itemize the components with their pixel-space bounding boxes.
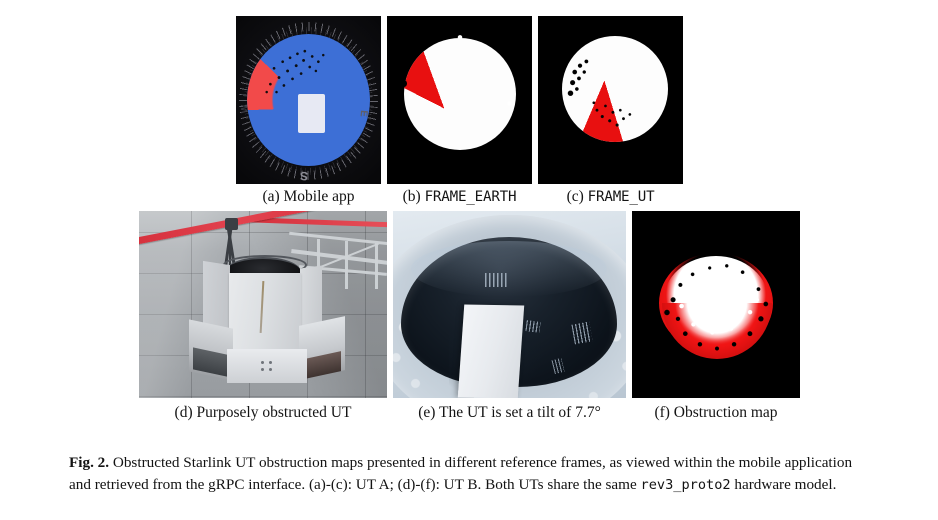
unknown-region-holes	[562, 36, 668, 142]
user-terminal-dish-rim	[223, 255, 307, 275]
subcaption-f: (f) Obstruction map	[632, 404, 800, 422]
subcaption-b-prefix: (b)	[403, 188, 425, 205]
clear-speckle	[658, 253, 776, 355]
enclosure-bolt	[261, 361, 264, 364]
subcaption-c-prefix: (c)	[567, 188, 588, 205]
enclosure-bolt	[269, 368, 272, 371]
subcaption-c-frame-name: FRAME_UT	[588, 189, 655, 205]
railing-post	[345, 241, 348, 289]
subcaption-e: (e) The UT is set a tilt of 7.7°	[393, 404, 626, 422]
railing-post	[375, 243, 378, 289]
dish-interior-sheen	[411, 241, 607, 297]
enclosure-bolt	[269, 361, 272, 364]
panel-f-obstruction-map-image	[632, 211, 800, 398]
panel-e-ut-tilt-photo	[393, 211, 626, 398]
map-edge-notch	[401, 80, 407, 87]
subcaption-b-frame-name: FRAME_EARTH	[425, 189, 517, 205]
figure-caption: Fig. 2. Obstructed Starlink UT obstructi…	[69, 452, 875, 496]
tilt-panel	[458, 304, 524, 398]
subcaption-e-text: (e) The UT is set a tilt of 7.7°	[418, 404, 601, 421]
figure-2: W E S (a) Mobile app (b) FRAME_EARTH (c)…	[0, 0, 938, 520]
phased-array-marking	[485, 273, 507, 287]
enclosure-bolt	[261, 368, 264, 371]
figure-label: Fig. 2.	[69, 454, 109, 471]
compass-marker-south: S	[300, 169, 309, 183]
subcaption-b: (b) FRAME_EARTH	[387, 188, 532, 206]
obstructed-region	[404, 38, 516, 150]
subcaption-a-text: (a) Mobile app	[262, 188, 354, 205]
enclosure-front-panel	[229, 273, 301, 356]
subcaption-f-text: (f) Obstruction map	[654, 404, 777, 421]
figure-caption-hardware-model: rev3_proto2	[641, 477, 731, 493]
subcaption-a: (a) Mobile app	[236, 188, 381, 206]
subcaption-c: (c) FRAME_UT	[538, 188, 683, 206]
enclosure-base	[227, 349, 307, 383]
figure-caption-part2: hardware model.	[731, 476, 837, 493]
compass-marker-east: E	[358, 110, 370, 118]
compass-marker-west: W	[239, 105, 249, 114]
subcaption-d: (d) Purposely obstructed UT	[139, 404, 387, 422]
panel-d-obstructed-ut-photo	[139, 211, 387, 398]
phased-array-marking	[571, 322, 592, 345]
panel-c-frame-ut-image	[538, 16, 683, 184]
dish-icon	[298, 94, 325, 133]
panel-b-frame-earth-image	[387, 16, 532, 184]
subcaption-d-text: (d) Purposely obstructed UT	[175, 404, 352, 421]
tripod-head	[225, 218, 238, 230]
panel-a-mobile-app-image: W E S	[236, 16, 381, 184]
